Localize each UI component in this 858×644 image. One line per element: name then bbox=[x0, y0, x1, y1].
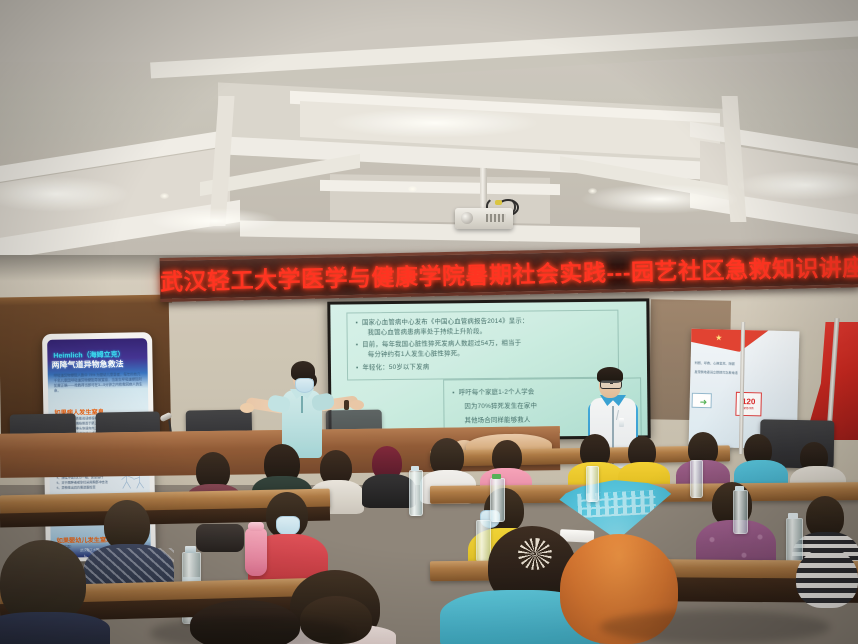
bullet-icon: ▪ bbox=[356, 340, 359, 350]
slide-line: 每分钟约有1人发生心脏性猝死。 bbox=[368, 349, 464, 360]
water-bottle bbox=[690, 460, 703, 498]
projector-vent bbox=[486, 214, 506, 222]
presenter-left-hand bbox=[240, 403, 254, 413]
eyeglasses-icon bbox=[600, 380, 622, 389]
head bbox=[104, 500, 150, 550]
water-bottle bbox=[409, 470, 423, 516]
water-bottle bbox=[490, 478, 505, 522]
water-bottle bbox=[733, 490, 748, 534]
projector-lens-icon bbox=[461, 212, 473, 224]
slide-line: 其他场合同样能够救人 bbox=[464, 416, 530, 427]
striped-shirt bbox=[796, 548, 858, 608]
pink-thermos bbox=[245, 528, 267, 576]
shoulders bbox=[362, 474, 416, 508]
slide-line: 年轻化：50岁以下发病 bbox=[362, 363, 429, 374]
thermos-cap bbox=[248, 522, 264, 531]
standee-intro: 呼吸道异物梗阻人数中 75% 为婴幼儿童患者，每年约有几千名儿童因呼吸道异物梗阻… bbox=[54, 372, 143, 394]
poster-line: 发现倒地者请立即拨打急救电话 bbox=[694, 370, 776, 377]
shoulders bbox=[0, 612, 110, 644]
emergency-caption: 紧急呼救 bbox=[743, 406, 753, 410]
poster-line: 判断、呼救、心肺复苏、除颤 bbox=[695, 361, 777, 368]
arrow-right-icon: ➜ bbox=[700, 397, 708, 408]
bullet-icon: ▪ bbox=[355, 318, 358, 328]
slide-line: 因为70%猝死发生在家中 bbox=[464, 401, 537, 412]
bullet-icon: ▪ bbox=[356, 363, 359, 373]
presenter-right-hand bbox=[350, 400, 364, 410]
hair-clip-icon bbox=[518, 538, 552, 570]
wristwatch bbox=[344, 400, 349, 410]
projector-connector bbox=[495, 200, 502, 205]
standee-title-cn: 两降气道异物急救法 bbox=[51, 358, 144, 371]
bottle-cap bbox=[735, 486, 744, 491]
water-bottle bbox=[586, 466, 599, 502]
photo-scene: 武汉轻工大学医学与健康学院暑期社会实践---园艺社区急救知识讲座 ▪ 国家心血管… bbox=[0, 0, 858, 644]
bottle-cap bbox=[185, 546, 196, 553]
star-icon: ★ bbox=[715, 333, 722, 342]
bullet-icon: ▪ bbox=[452, 388, 455, 398]
face-mask bbox=[276, 516, 300, 536]
polo-placket bbox=[301, 396, 303, 413]
slide-line: 呼吁每个家庭1-2个人学会 bbox=[459, 388, 535, 399]
bottle-cap bbox=[492, 474, 501, 479]
bottle-cap bbox=[788, 513, 798, 519]
female-presenter bbox=[246, 356, 356, 461]
poster-red-corner bbox=[689, 329, 774, 353]
id-badge bbox=[619, 418, 624, 427]
ceiling bbox=[0, 0, 858, 262]
slide-line: 我国心血管病患病率处于持续上升阶段。 bbox=[368, 327, 487, 338]
handbag bbox=[196, 524, 244, 552]
face-mask bbox=[295, 378, 314, 393]
bottle-cap bbox=[411, 466, 419, 471]
